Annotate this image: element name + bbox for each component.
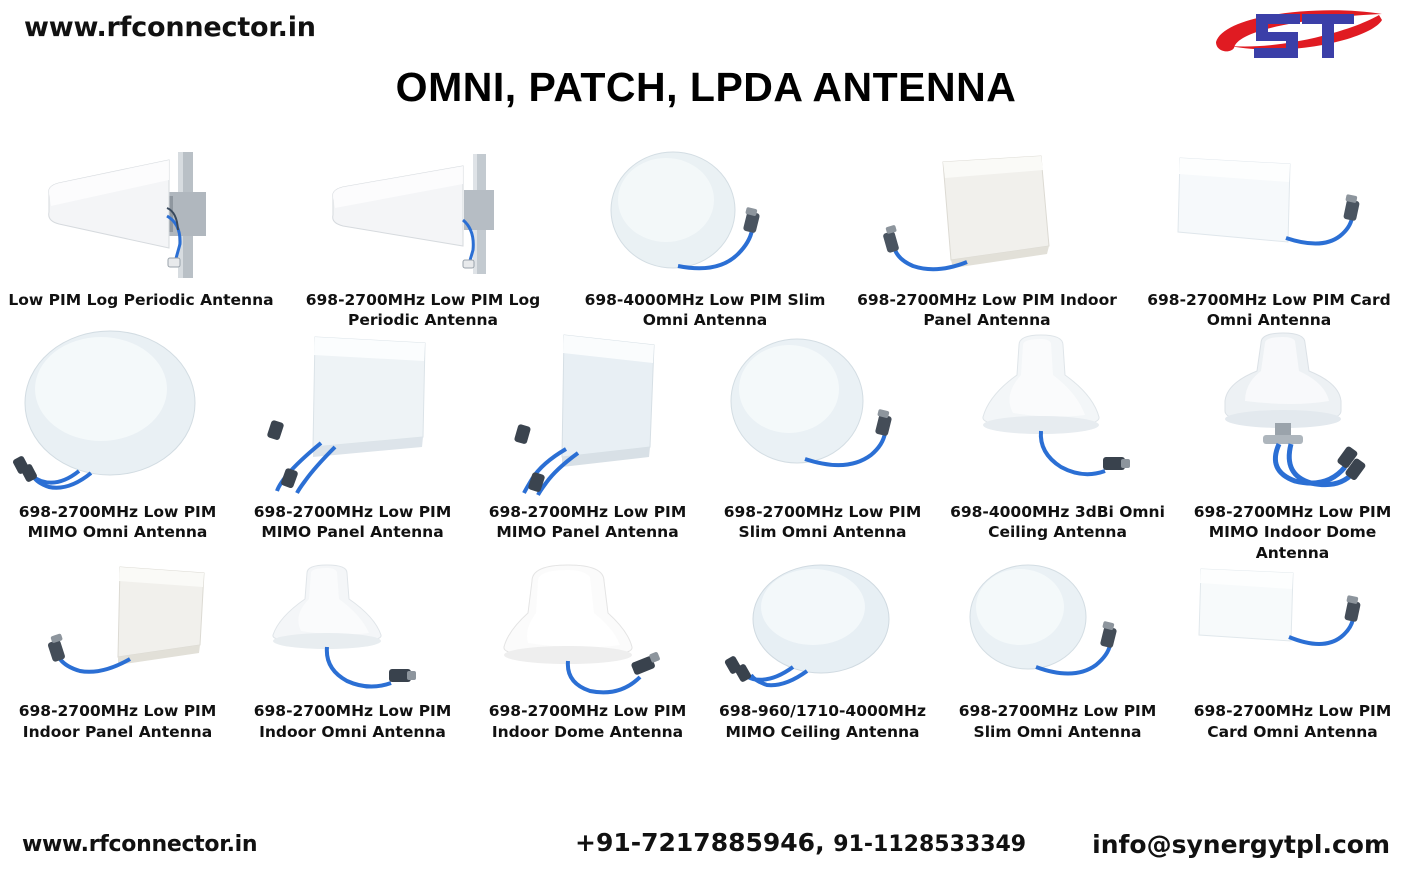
product-card-indoor-panel-1[interactable]: 698-2700MHz Low PIM Indoor Panel Antenna [846,150,1128,331]
product-card-omni-ceiling[interactable]: 698-4000MHz 3dBi Omni Ceiling Antenna [940,331,1175,563]
product-image-indoor-dome [470,563,705,693]
product-card-indoor-omni[interactable]: 698-2700MHz Low PIM Indoor Omni Antenna [235,563,470,742]
footer-phone-primary[interactable]: +91-7217885946 [575,828,815,857]
product-image-mimo-ceiling [705,563,940,693]
product-card-lpda-2[interactable]: 698-2700MHz Low PIM Log Periodic Antenna [282,150,564,331]
product-image-indoor-panel-2 [0,563,235,693]
product-caption: 698-4000MHz 3dBi Omni Ceiling Antenna [940,502,1175,543]
footer-email[interactable]: info@synergytpl.com [1092,830,1390,859]
product-row-2: 698-2700MHz Low PIM MIMO Omni Antenna 69… [0,331,1412,563]
product-caption: 698-4000MHz Low PIM Slim Omni Antenna [564,290,846,331]
product-image-card-omni-1 [1128,150,1410,280]
product-image-indoor-omni [235,563,470,693]
product-card-lpda-1[interactable]: Low PIM Log Periodic Antenna [0,150,282,331]
product-image-slim-omni-3 [940,563,1175,693]
product-caption: 698-2700MHz Low PIM Card Omni Antenna [1128,290,1410,331]
product-image-mimo-indoor-dome [1175,331,1410,496]
product-card-slim-omni-3[interactable]: 698-2700MHz Low PIM Slim Omni Antenna [940,563,1175,742]
product-row-3: 698-2700MHz Low PIM Indoor Panel Antenna… [0,563,1412,742]
product-row-1: Low PIM Log Periodic Antenna 698-2700MHz… [0,150,1412,331]
product-image-omni-ceiling [940,331,1175,496]
product-caption: 698-960/1710-4000MHz MIMO Ceiling Antenn… [705,701,940,742]
product-caption: 698-2700MHz Low PIM MIMO Omni Antenna [0,502,235,543]
product-card-mimo-panel-b[interactable]: 698-2700MHz Low PIM MIMO Panel Antenna [470,331,705,563]
product-card-indoor-dome[interactable]: 698-2700MHz Low PIM Indoor Dome Antenna [470,563,705,742]
product-image-mimo-panel-a [235,331,470,496]
product-caption: 698-2700MHz Low PIM MIMO Panel Antenna [235,502,470,543]
product-caption: Low PIM Log Periodic Antenna [4,290,277,310]
product-image-card-omni-2 [1175,563,1410,693]
product-image-indoor-panel-1 [846,150,1128,280]
product-card-slim-omni-1[interactable]: 698-4000MHz Low PIM Slim Omni Antenna [564,150,846,331]
header-site-url[interactable]: www.rfconnector.in [24,12,316,43]
header: www.rfconnector.in [0,0,1412,62]
product-card-mimo-ceiling[interactable]: 698-960/1710-4000MHz MIMO Ceiling Antenn… [705,563,940,742]
product-image-slim-omni-1 [564,150,846,280]
product-caption: 698-2700MHz Low PIM Slim Omni Antenna [705,502,940,543]
product-caption: 698-2700MHz Low PIM Log Periodic Antenna [282,290,564,331]
footer-phone-secondary[interactable]: 91-1128533349 [833,832,1026,857]
footer-site-url[interactable]: www.rfconnector.in [22,832,257,857]
footer-phone-separator: , [815,828,825,857]
product-caption: 698-2700MHz Low PIM Indoor Panel Antenna [0,701,235,742]
product-caption: 698-2700MHz Low PIM Indoor Dome Antenna [470,701,705,742]
company-logo [1204,2,1394,64]
product-card-mimo-panel-a[interactable]: 698-2700MHz Low PIM MIMO Panel Antenna [235,331,470,563]
product-image-lpda-2 [282,150,564,280]
footer-phone-numbers[interactable]: +91-7217885946, 91-1128533349 [575,828,1026,857]
product-image-lpda-1 [0,150,282,280]
product-image-mimo-omni [0,331,235,496]
product-card-slim-omni-2[interactable]: 698-2700MHz Low PIM Slim Omni Antenna [705,331,940,563]
product-grid: Low PIM Log Periodic Antenna 698-2700MHz… [0,150,1412,742]
product-card-card-omni-2[interactable]: 698-2700MHz Low PIM Card Omni Antenna [1175,563,1410,742]
product-card-card-omni-1[interactable]: 698-2700MHz Low PIM Card Omni Antenna [1128,150,1410,331]
product-caption: 698-2700MHz Low PIM Card Omni Antenna [1175,701,1410,742]
logo-st-icon [1204,2,1394,64]
product-caption: 698-2700MHz Low PIM Indoor Panel Antenna [846,290,1128,331]
product-image-slim-omni-2 [705,331,940,496]
product-caption: 698-2700MHz Low PIM Indoor Omni Antenna [235,701,470,742]
product-caption: 698-2700MHz Low PIM MIMO Panel Antenna [470,502,705,543]
product-card-mimo-omni[interactable]: 698-2700MHz Low PIM MIMO Omni Antenna [0,331,235,563]
page-title: OMNI, PATCH, LPDA ANTENNA [0,64,1412,111]
product-caption: 698-2700MHz Low PIM MIMO Indoor Dome Ant… [1175,502,1410,563]
poster-page: www.rfconnector.in OMNI, PATCH, LPDA ANT… [0,0,1412,890]
product-card-mimo-indoor-dome[interactable]: 698-2700MHz Low PIM MIMO Indoor Dome Ant… [1175,331,1410,563]
footer: www.rfconnector.in +91-7217885946, 91-11… [0,822,1412,890]
product-card-indoor-panel-2[interactable]: 698-2700MHz Low PIM Indoor Panel Antenna [0,563,235,742]
product-caption: 698-2700MHz Low PIM Slim Omni Antenna [940,701,1175,742]
product-image-mimo-panel-b [470,331,705,496]
